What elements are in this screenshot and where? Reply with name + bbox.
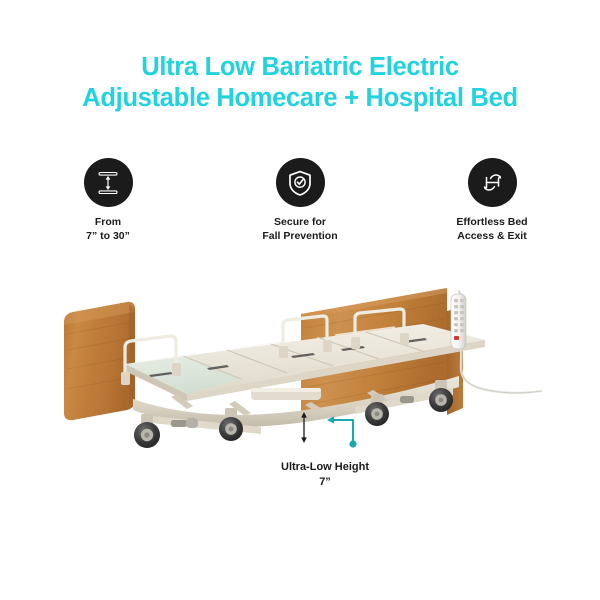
callout-label-line-1: Ultra-Low Height xyxy=(230,460,420,475)
feature-badge-label: Effortless Bed Access & Exit xyxy=(456,216,527,243)
badge-label-line-1: Effortless Bed xyxy=(456,216,527,230)
feature-badge-row: From 7” to 30” Secure for Fall Preventio… xyxy=(0,158,600,243)
badge-icon-circle xyxy=(84,158,133,207)
badge-label-line-2: Access & Exit xyxy=(456,230,527,244)
callout-label: Ultra-Low Height 7” xyxy=(230,460,420,490)
badge-icon-circle xyxy=(468,158,517,207)
badge-label-line-2: Fall Prevention xyxy=(262,230,337,244)
hand-control-pendant xyxy=(451,291,541,393)
feature-badge-label: From 7” to 30” xyxy=(86,216,130,243)
badge-label-line-1: From xyxy=(86,216,130,230)
callout-arrows xyxy=(230,408,420,456)
bed-transfer-arrows-icon xyxy=(477,167,508,198)
feature-badge-bed-access: Effortless Bed Access & Exit xyxy=(427,158,557,243)
elbow-pointer-arrow xyxy=(327,416,357,447)
title-line-1: Ultra Low Bariatric Electric xyxy=(0,52,600,83)
page-title: Ultra Low Bariatric Electric Adjustable … xyxy=(0,52,600,114)
feature-badge-fall-prevention: Secure for Fall Prevention xyxy=(235,158,365,243)
vertical-double-arrow xyxy=(301,412,307,443)
badge-label-line-2: 7” to 30” xyxy=(86,230,130,244)
badge-icon-circle xyxy=(276,158,325,207)
marketing-image: Ultra Low Bariatric Electric Adjustable … xyxy=(0,0,600,600)
feature-badge-height-range: From 7” to 30” xyxy=(43,158,173,243)
badge-label-line-1: Secure for xyxy=(262,216,337,230)
feature-badge-label: Secure for Fall Prevention xyxy=(262,216,337,243)
brake-pedal xyxy=(400,396,414,403)
shield-check-icon xyxy=(285,168,315,198)
ultra-low-height-callout: Ultra-Low Height 7” xyxy=(230,408,420,498)
pendant-red-button xyxy=(454,336,459,340)
title-line-2: Adjustable Homecare + Hospital Bed xyxy=(0,83,600,114)
callout-label-line-2: 7” xyxy=(230,475,420,490)
height-adjust-arrow-icon xyxy=(93,168,123,198)
